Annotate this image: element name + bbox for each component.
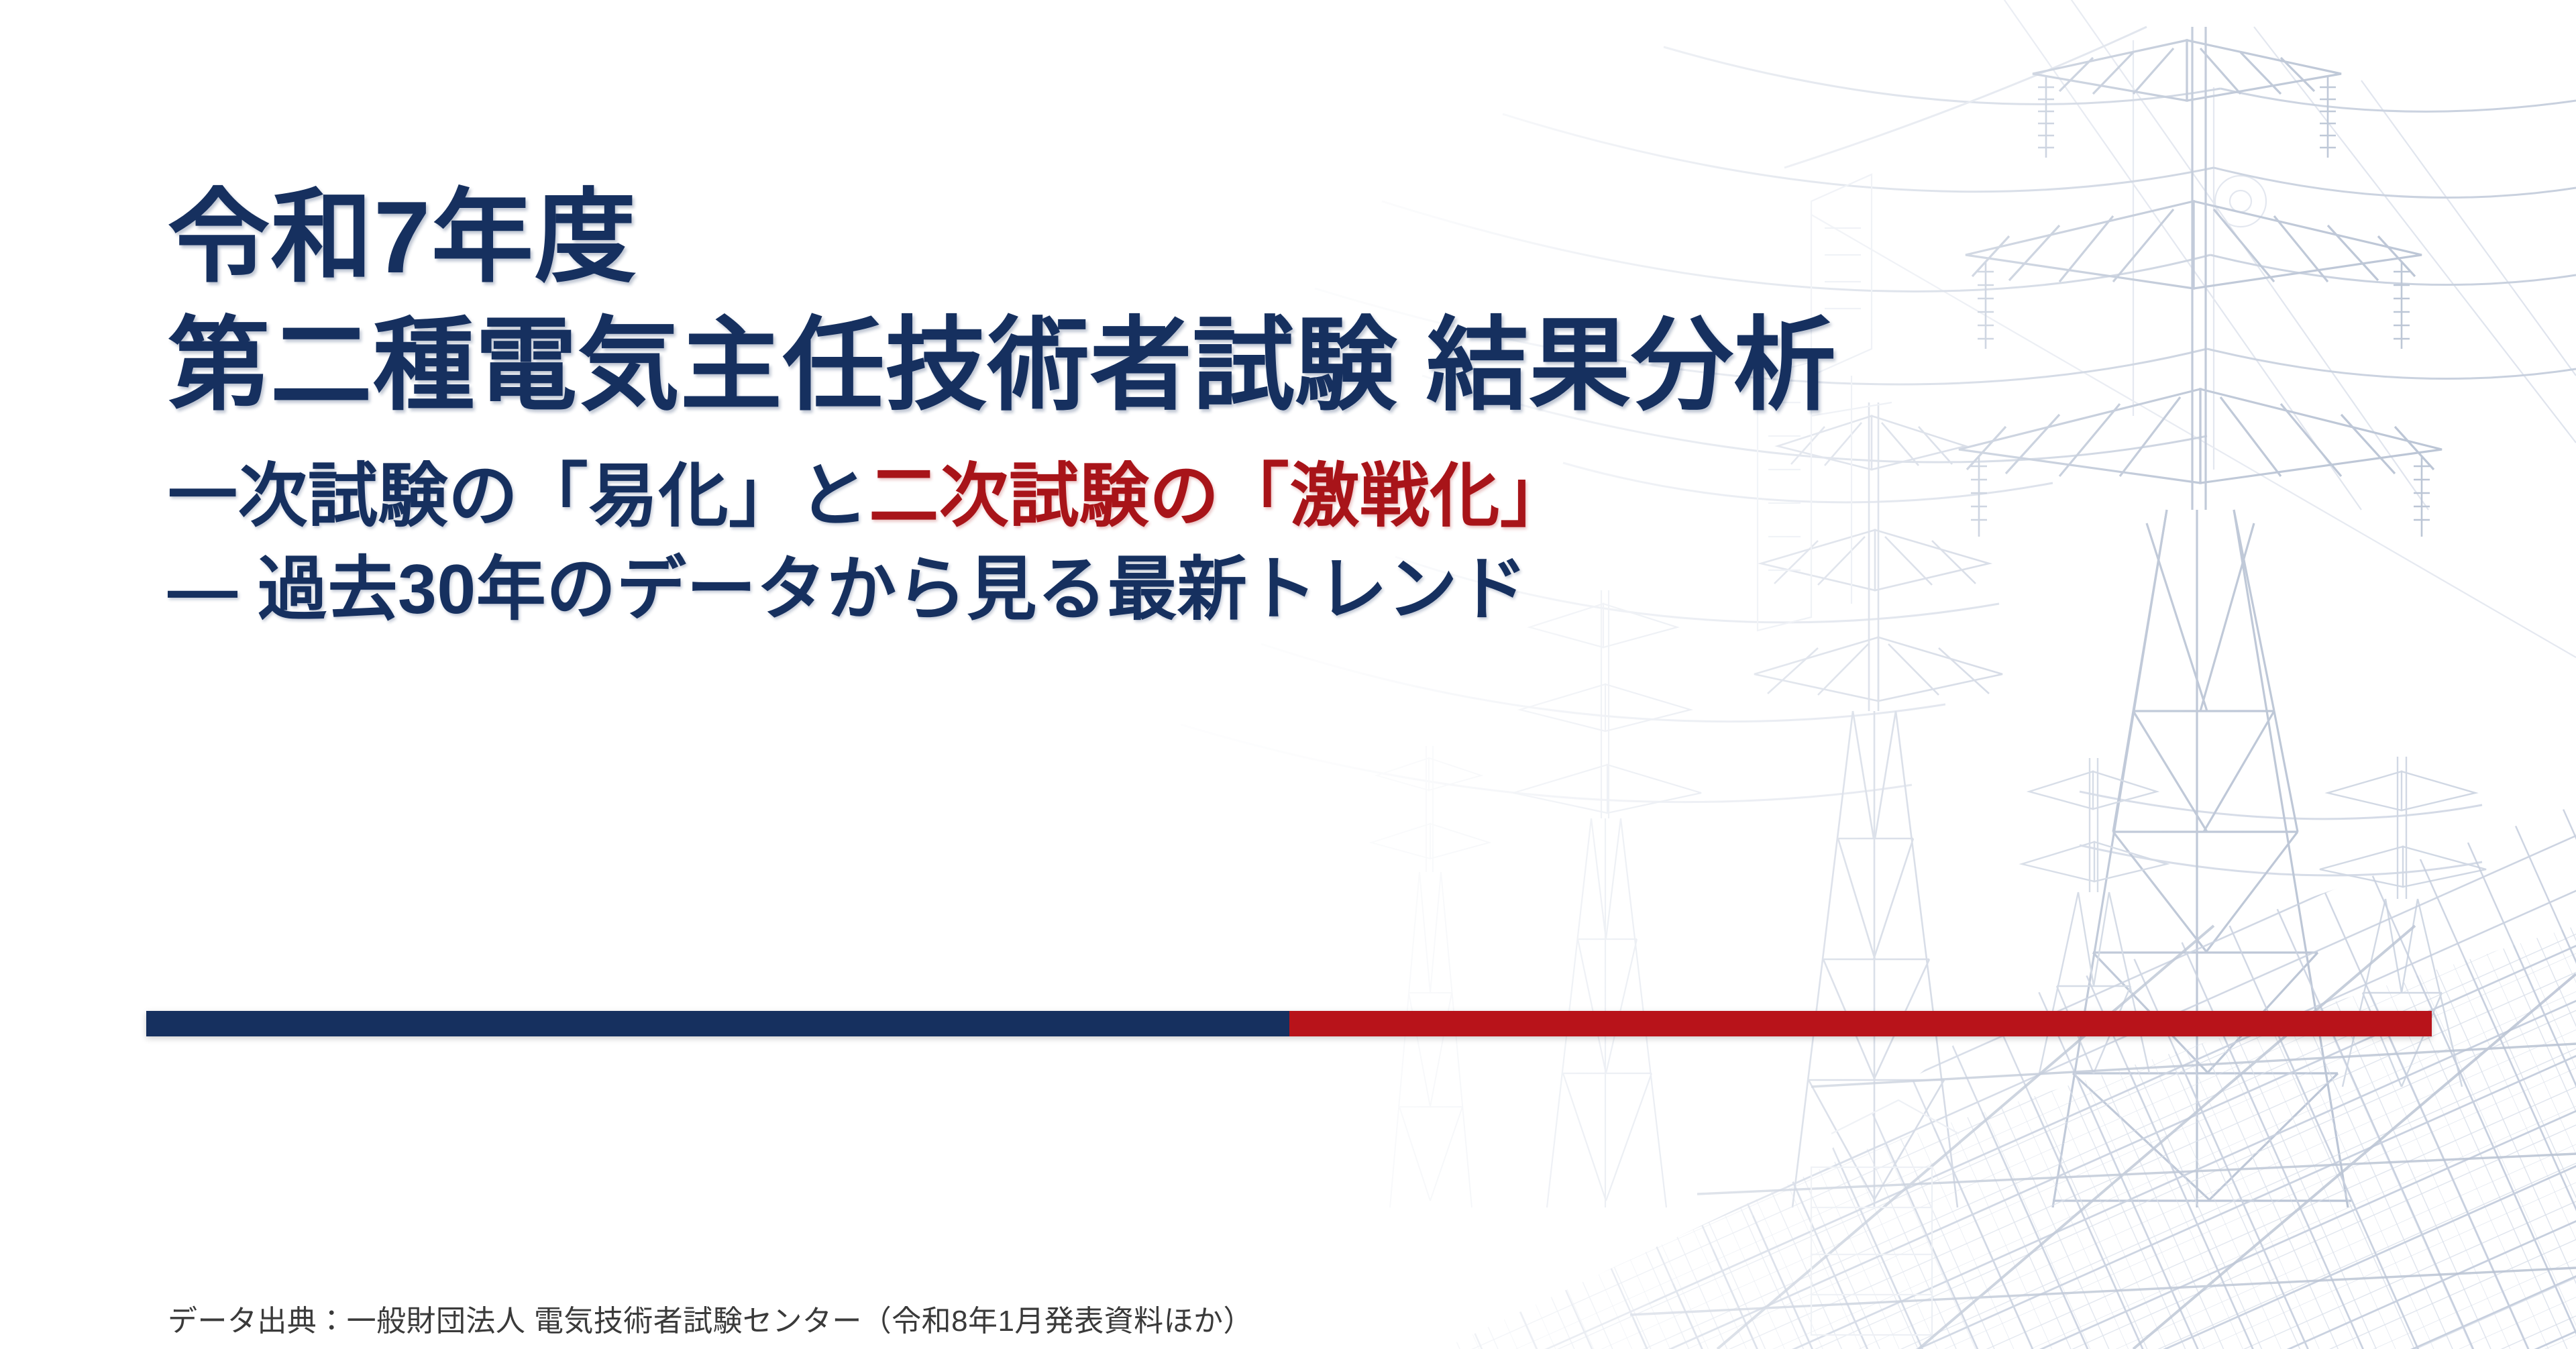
- page-title: 第二種電気主任技術者試験 結果分析: [168, 304, 2449, 428]
- divider-segment-navy: [146, 1011, 1289, 1036]
- subtitle-line-1: 一次試験の「易化」と二次試験の「激戦化」: [168, 451, 2449, 542]
- transmission-tower-icon: [1513, 590, 1701, 1207]
- subtitle-line-1-accent: 二次試験の「激戦化」: [869, 457, 1570, 535]
- street-grid-map-dense: [1543, 771, 2576, 1349]
- transmission-tower-icon: [1371, 746, 1489, 1207]
- divider-segment-red: [1289, 1011, 2432, 1036]
- street-grid-map: [1275, 805, 2576, 1349]
- data-source-note: データ出典：一般財団法人 電気技術者試験センター（令和8年1月発表資料ほか）: [168, 1297, 1253, 1340]
- accent-divider-bar: [146, 1011, 2432, 1036]
- transmission-tower-icon: [2320, 757, 2486, 1087]
- slide-root: 令和7年度 第二種電気主任技術者試験 結果分析 一次試験の「易化」と二次試験の「…: [0, 0, 2576, 1349]
- arterial-road: [1630, 926, 2576, 1349]
- plan-drawing-icon: [1811, 1100, 1959, 1335]
- subtitle-line-1-navy: 一次試験の「易化」と: [168, 457, 869, 535]
- subtitle-line-2: ― 過去30年のデータから見る最新トレンド: [168, 545, 2449, 635]
- title-kicker: 令和7年度: [168, 176, 2449, 300]
- title-block: 令和7年度 第二種電気主任技術者試験 結果分析 一次試験の「易化」と二次試験の「…: [168, 176, 2449, 635]
